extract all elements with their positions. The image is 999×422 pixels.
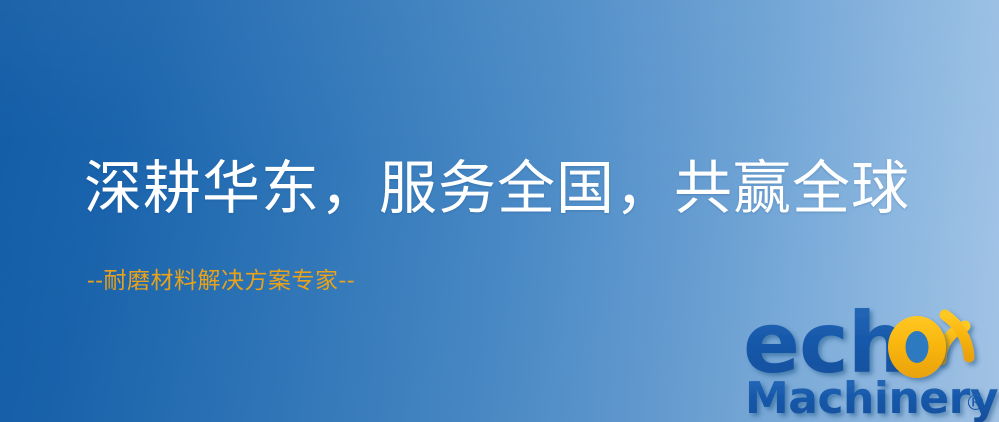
page-subtitle: --耐磨材料解决方案专家-- <box>87 266 355 296</box>
svg-text:Machinery: Machinery <box>745 373 998 422</box>
hero-banner: 深耕华东，服务全国，共赢全球 --耐磨材料解决方案专家-- <box>0 0 999 422</box>
letter-o-ring-icon <box>888 316 946 378</box>
brand-logo[interactable]: ech Machinery ® <box>741 296 999 422</box>
logo-subbrand: Machinery ® <box>745 373 998 422</box>
page-title: 深耕华东，服务全国，共赢全球 <box>84 153 910 223</box>
svg-text:®: ® <box>965 391 986 415</box>
